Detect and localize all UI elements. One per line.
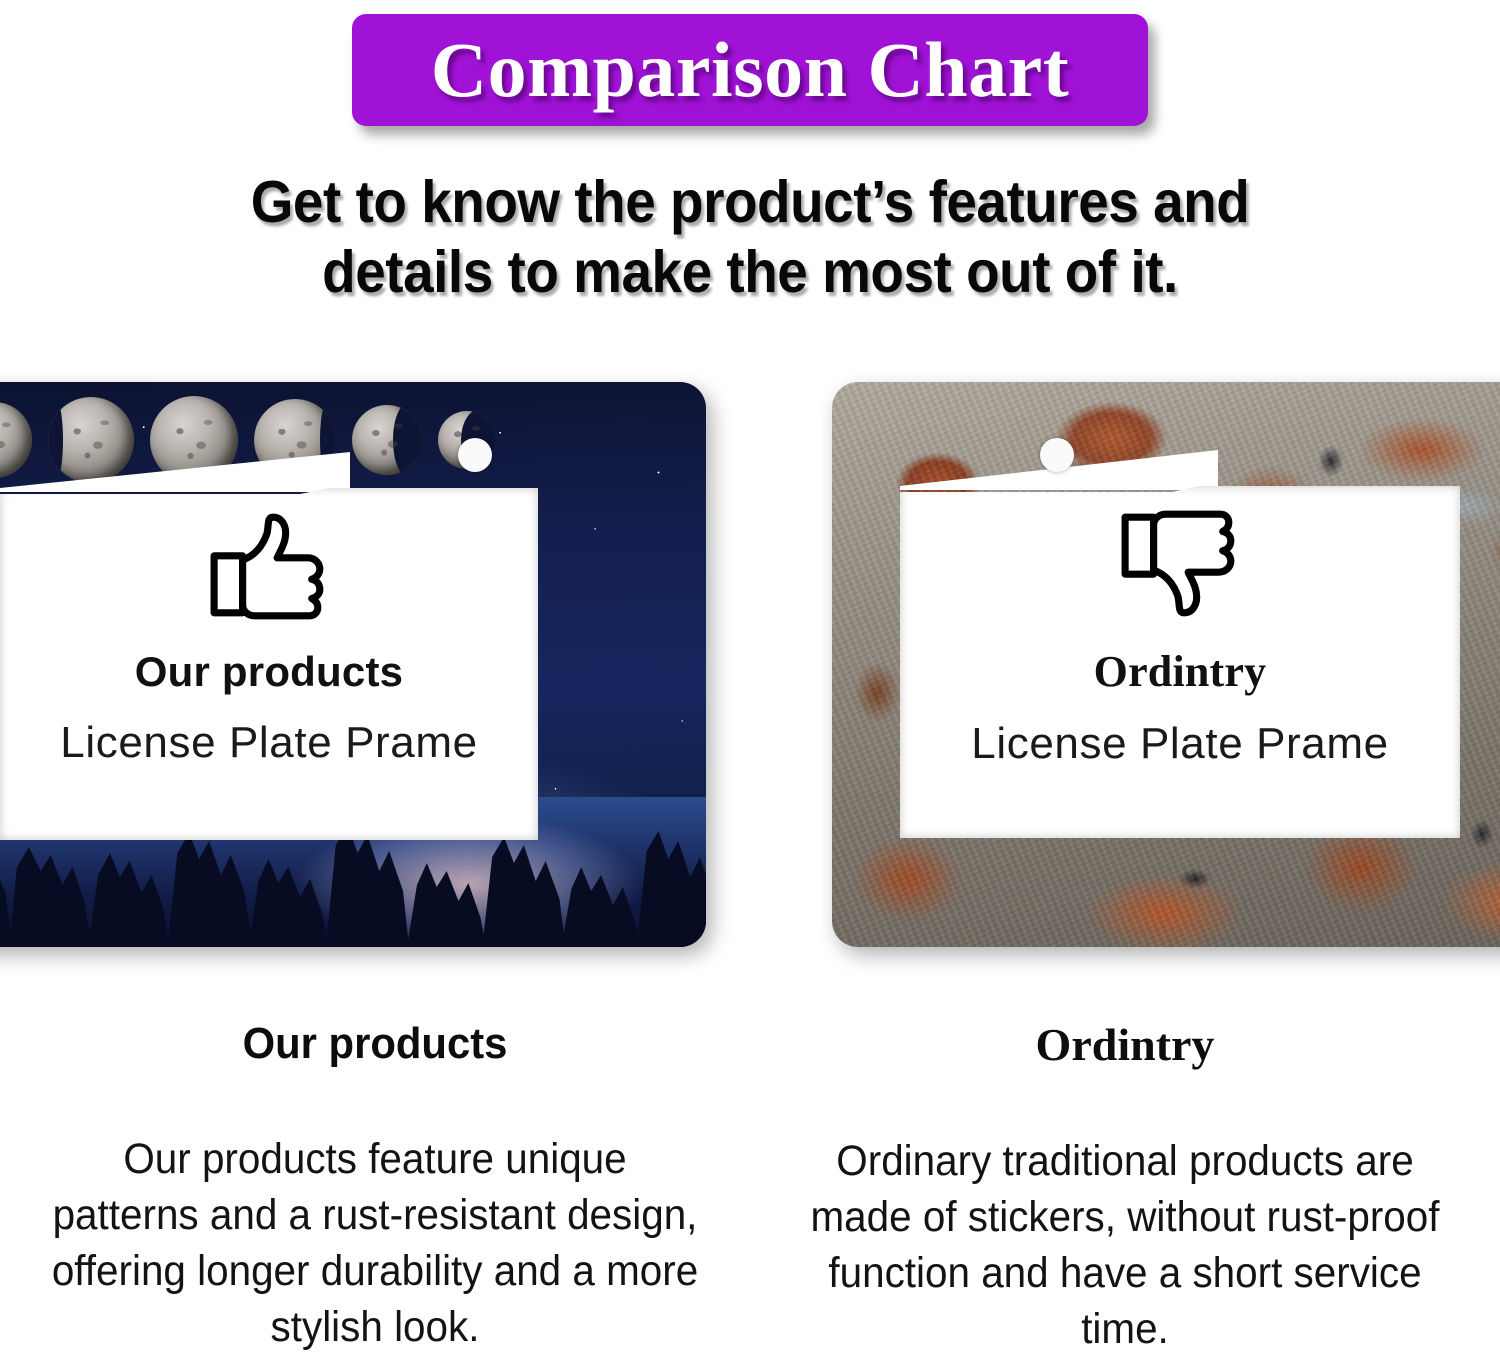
- moon-phase-icon: [48, 397, 134, 483]
- thumbs-down-icon: [1119, 508, 1241, 620]
- license-plate-window: Our products License Plate Prame: [0, 488, 538, 840]
- column-heading: Ordintry: [774, 1022, 1476, 1068]
- license-plate-window: Ordintry License Plate Prame: [900, 486, 1460, 838]
- description-columns: Our products Our products feature unique…: [0, 1022, 1500, 1364]
- frame-product-label: License Plate Prame: [971, 719, 1388, 769]
- subtitle-line-1: Get to know the product’s features and: [251, 169, 1250, 235]
- column-body-text: Our products feature unique patterns and…: [45, 1132, 705, 1356]
- ordinary-product-frame: Ordintry License Plate Prame: [832, 382, 1500, 947]
- our-product-frame: Our products License Plate Prame: [0, 382, 706, 947]
- product-frames-row: Our products License Plate Prame: [0, 372, 1500, 952]
- subtitle: Get to know the product’s features and d…: [53, 168, 1448, 307]
- comparison-chart-page: Comparison Chart Get to know the product…: [0, 0, 1500, 1364]
- mounting-hole-icon: [458, 438, 492, 472]
- comparison-chart-banner: Comparison Chart: [352, 14, 1148, 126]
- frame-brand-label: Ordintry: [1094, 646, 1267, 697]
- column-heading: Our products: [42, 1022, 709, 1066]
- moon-phase-icon: [352, 405, 422, 475]
- subtitle-line-2: details to make the most out of it.: [53, 238, 1448, 308]
- frame-brand-label: Our products: [135, 648, 403, 696]
- frame-product-label: License Plate Prame: [60, 718, 477, 768]
- moon-phase-icon: [0, 402, 32, 478]
- column-body-text: Ordinary traditional products are made o…: [795, 1134, 1455, 1358]
- our-products-column: Our products Our products feature unique…: [0, 1022, 750, 1364]
- page-title: Comparison Chart: [431, 31, 1070, 109]
- thumbs-up-icon: [208, 510, 330, 622]
- ordintry-column: Ordintry Ordinary traditional products a…: [750, 1022, 1500, 1364]
- mounting-hole-icon: [1040, 438, 1074, 472]
